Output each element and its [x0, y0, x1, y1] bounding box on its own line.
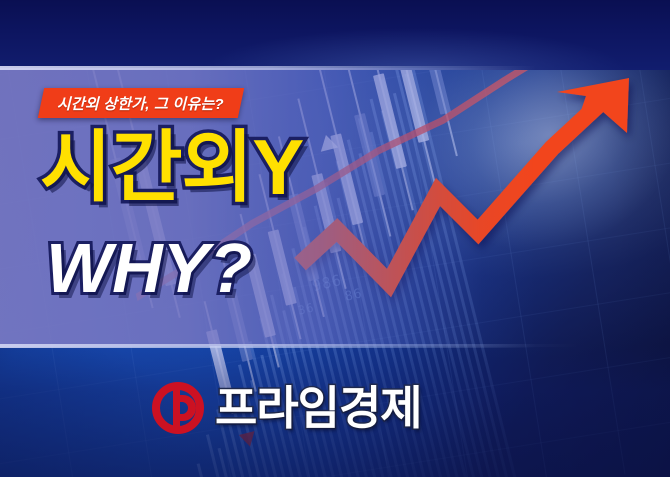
news-thumbnail-card: 986 86 36 시간외 상한가, 그 이유는? 시간외Y WHY? [0, 0, 670, 477]
headline-ribbon: 시간외 상한가, 그 이유는? [38, 88, 244, 118]
brand-logo-text: 프라임경제 [215, 385, 422, 431]
page-subtitle: WHY? [46, 233, 252, 303]
headline-ribbon-label: 시간외 상한가, 그 이유는? [57, 93, 224, 114]
panel-bottom-divider [0, 344, 670, 348]
brand-logo: 프라임경제 [152, 382, 422, 434]
page-title: 시간외Y [40, 128, 303, 206]
panel-top-divider [0, 66, 670, 70]
prime-economy-p-mark-icon [152, 382, 204, 434]
